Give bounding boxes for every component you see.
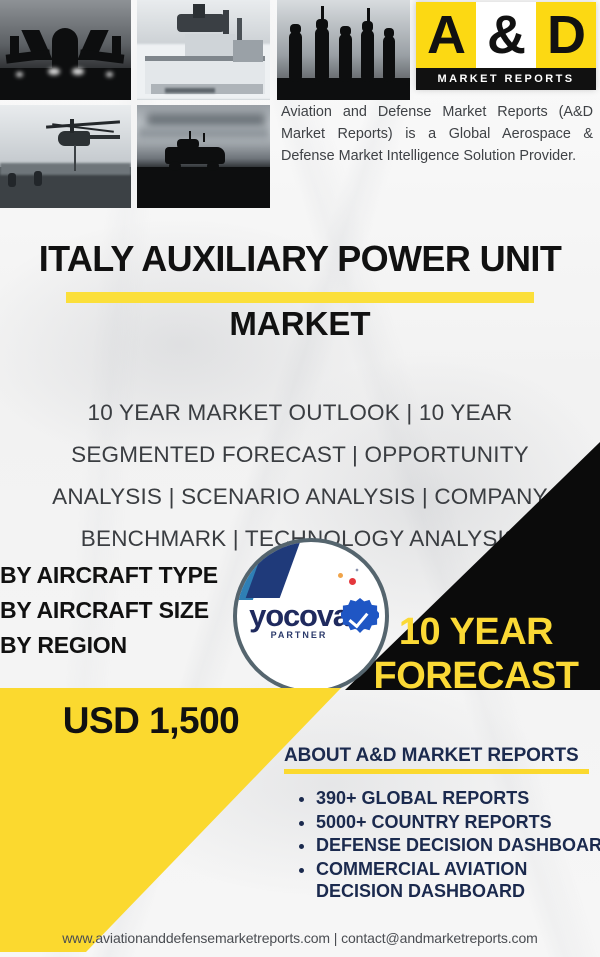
about-section-heading: ABOUT A&D MARKET REPORTS (284, 745, 579, 767)
about-bullet-list: 390+ GLOBAL REPORTS 5000+ COUNTRY REPORT… (296, 787, 600, 904)
logo-tagline-bar: MARKET REPORTS (416, 68, 596, 90)
company-intro-paragraph: Aviation and Defense Market Reports (A&D… (281, 101, 593, 167)
armored-vehicle-photo (137, 105, 270, 208)
segmentation-by-aircraft-type: BY AIRCRAFT TYPE (0, 558, 218, 593)
about-heading-underline (284, 769, 589, 774)
list-item: 5000+ COUNTRY REPORTS (316, 811, 600, 834)
brand-logo: A & D MARKET REPORTS (416, 2, 596, 90)
yocova-wordmark: yocova (244, 598, 354, 634)
title-underline-bar (66, 292, 534, 303)
page-title-second-line: MARKET (0, 305, 600, 343)
logo-letter-d: D (547, 8, 585, 62)
report-scope-subtitle: 10 YEAR MARKET OUTLOOK | 10 YEAR SEGMENT… (14, 392, 586, 560)
segmentation-by-region: BY REGION (0, 628, 218, 663)
logo-cell-a: A (416, 2, 476, 68)
price-value: USD 1,500 (26, 700, 276, 742)
list-item: 390+ GLOBAL REPORTS (316, 787, 600, 810)
segmentation-list: BY AIRCRAFT TYPE BY AIRCRAFT SIZE BY REG… (0, 558, 218, 663)
logo-letter-a: A (427, 8, 465, 62)
logo-cell-ampersand: & (476, 2, 536, 68)
logo-letter-ampersand: & (487, 8, 525, 62)
soldiers-silhouette-photo (277, 0, 410, 100)
yocova-partner-badge: yocova PARTNER (233, 538, 389, 694)
list-item: COMMERCIAL AVIATION DECISION DASHBOARD (316, 858, 600, 903)
yocova-partner-label: PARTNER (244, 630, 354, 640)
forecast-line-1: 10 YEAR (352, 610, 600, 654)
logo-letters: A & D (416, 2, 596, 68)
list-item: DEFENSE DECISION DASHBOARD (316, 834, 600, 857)
forecast-line-2: FORECAST (352, 654, 600, 698)
logo-cell-d: D (536, 2, 596, 68)
segmentation-by-aircraft-size: BY AIRCRAFT SIZE (0, 593, 218, 628)
badge-sparkle-icon (355, 568, 359, 572)
footer-contact[interactable]: www.aviationanddefensemarketreports.com … (0, 930, 600, 946)
page-title: ITALY AUXILIARY POWER UNIT (0, 240, 600, 277)
verified-check-icon (341, 598, 379, 636)
badge-dot-red-icon (349, 578, 356, 585)
naval-ship-photo (137, 0, 270, 100)
fighter-jet-photo (0, 0, 131, 100)
forecast-callout: 10 YEAR FORECAST (352, 610, 600, 698)
logo-tagline: MARKET REPORTS (438, 73, 575, 85)
helicopter-photo (0, 105, 131, 208)
badge-dot-orange-icon (338, 573, 343, 578)
report-cover: A & D MARKET REPORTS Aviation and Defens… (0, 0, 600, 957)
